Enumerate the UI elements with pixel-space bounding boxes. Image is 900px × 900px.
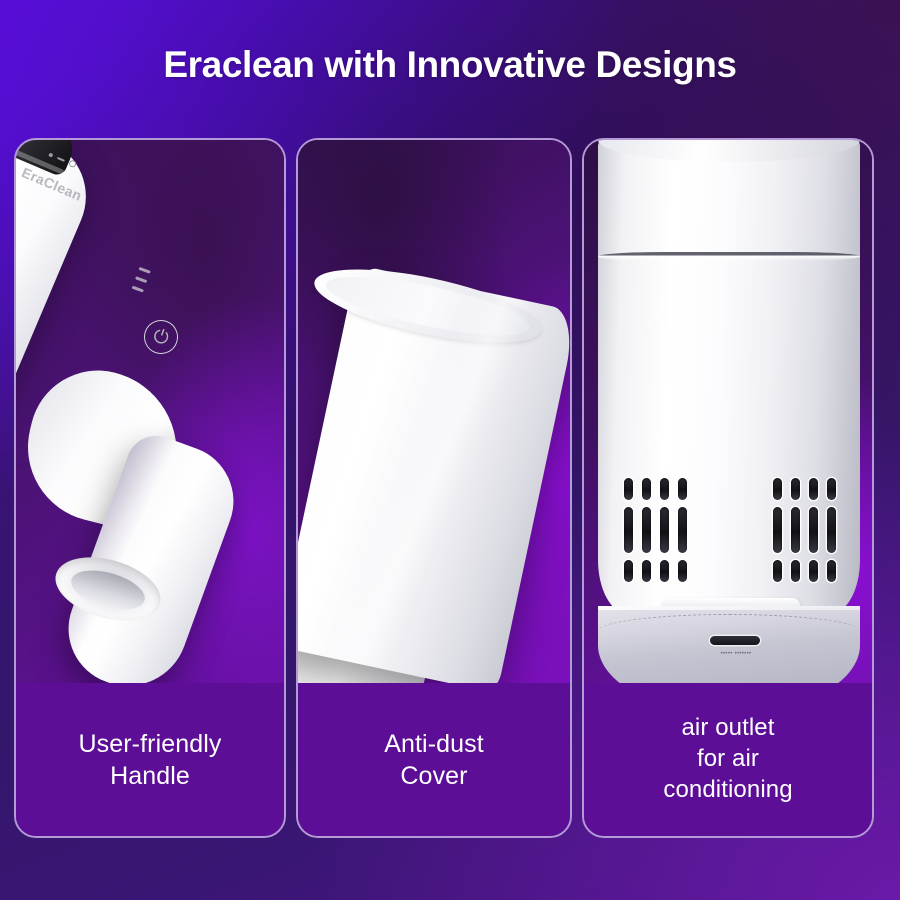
vent-column: [642, 478, 651, 582]
vent-group-left: [624, 478, 687, 582]
panel-caption-handle: User-friendly Handle: [16, 683, 284, 836]
feature-panel-user-friendly-handle[interactable]: EraClean ⏻ User-friendly Handle: [14, 138, 286, 838]
vent-slot: [827, 560, 836, 582]
vent-column: [809, 478, 818, 582]
vent-slot: [791, 478, 800, 500]
vent-slot: [827, 478, 836, 500]
device-base-fine-print: ••••• •••••••: [694, 650, 778, 659]
vent-slot: [809, 478, 818, 500]
caption-line-1: User-friendly: [79, 730, 222, 758]
vent-slot: [660, 507, 669, 553]
caption-line-1: Anti-dust: [384, 730, 484, 758]
vent-slot: [678, 478, 687, 500]
caption-line-3: conditioning: [663, 776, 792, 803]
caption-line-2: Handle: [110, 762, 190, 790]
vent-slot: [773, 560, 782, 582]
device-seam-line: [598, 252, 860, 261]
vent-column: [678, 478, 687, 582]
vent-slot: [624, 507, 633, 553]
caption-line-2: Cover: [400, 762, 467, 790]
vent-group-right: [773, 478, 836, 582]
page-title: Eraclean with Innovative Designs: [0, 44, 900, 86]
vent-slot: [773, 478, 782, 500]
vent-slot: [791, 560, 800, 582]
vent-slot: [624, 560, 633, 582]
vent-slot: [660, 478, 669, 500]
caption-line-2: for air: [697, 745, 759, 772]
vent-slot: [678, 560, 687, 582]
product-photo-cover: [298, 140, 570, 683]
vent-column: [791, 478, 800, 582]
product-photo-handle: EraClean ⏻: [16, 140, 284, 683]
vent-slot: [791, 507, 800, 553]
vent-column: [773, 478, 782, 582]
vent-column: [827, 478, 836, 582]
vent-slot: [660, 560, 669, 582]
caption-line-1: air outlet: [681, 714, 774, 741]
vent-slot: [827, 507, 836, 553]
vent-slot: [678, 507, 687, 553]
vent-slot: [624, 478, 633, 500]
vent-column: [624, 478, 633, 582]
vent-slot: [642, 560, 651, 582]
panel-caption-air-outlet: air outlet for air conditioning: [584, 683, 872, 836]
vent-slot: [773, 507, 782, 553]
feature-panel-grid: EraClean ⏻ User-friendly Handle: [14, 138, 886, 838]
air-outlet-vent-array: [624, 478, 836, 582]
vent-column: [660, 478, 669, 582]
feature-panel-air-outlet[interactable]: ••••• ••••••• air outlet for air conditi…: [582, 138, 874, 838]
product-photo-air-outlet: ••••• •••••••: [584, 140, 872, 683]
panel-caption-cover: Anti-dust Cover: [298, 683, 570, 836]
device-base-slot: [710, 636, 760, 645]
vent-slot: [809, 507, 818, 553]
vent-slot: [642, 507, 651, 553]
feature-panel-anti-dust-cover[interactable]: Anti-dust Cover: [296, 138, 572, 838]
vent-slot: [642, 478, 651, 500]
vent-slot: [809, 560, 818, 582]
